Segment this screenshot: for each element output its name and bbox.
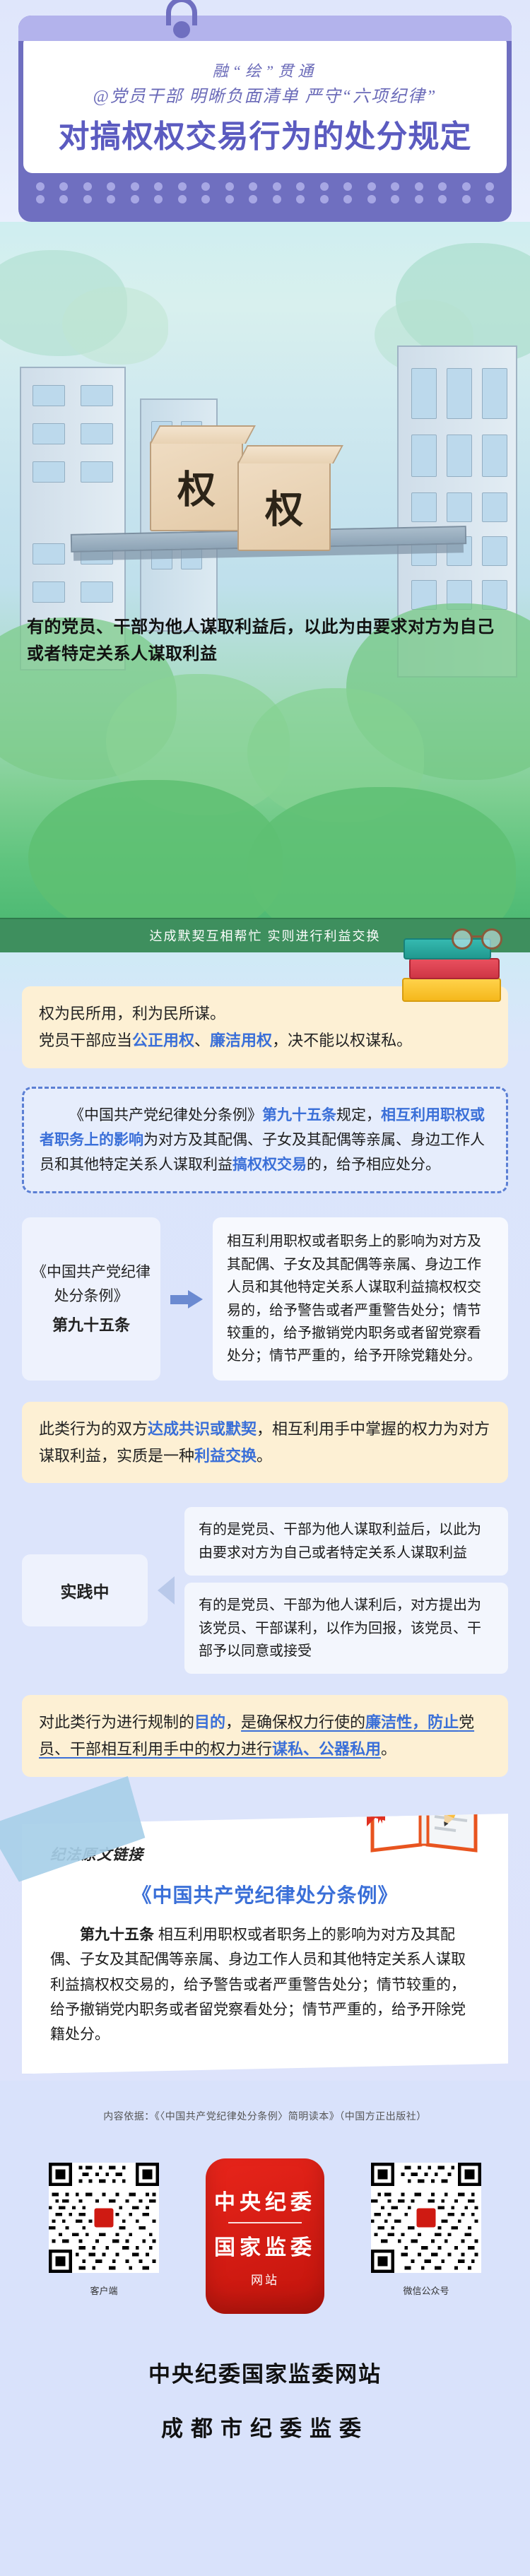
practice-label: 实践中 — [22, 1554, 148, 1626]
source-note: 内容依据：《〈中国共产党纪律处分条例〉简明读本》（中国方正出版社） — [0, 2109, 530, 2123]
dashed-p2: 规定， — [336, 1107, 381, 1123]
purpose-hl-selfish: 谋私、公器私用 — [272, 1740, 381, 1758]
arrow-right-icon — [160, 1217, 213, 1380]
law-article-body: 相互利用职权或者职务上的影响为对方及其配偶、子女及其配偶等亲属、身边工作人员和其… — [213, 1217, 508, 1380]
clipboard-dots-row-2 — [18, 195, 512, 203]
brand-row: 客户端 中央纪委 国家监委 网站 — [0, 2163, 530, 2314]
principle-hl-clean-use: 廉洁用权 — [210, 1032, 272, 1049]
principle-hl-fair-use: 公正用权 — [132, 1032, 194, 1049]
cream-box-nature: 此类行为的双方达成共识或默契，相互利用手中掌握的权力为对方谋取利益，实质是一种利… — [22, 1402, 508, 1484]
purpose-hl-integrity: 廉洁性，防止 — [365, 1713, 459, 1731]
nature-c: 。 — [257, 1447, 272, 1465]
purpose-c: 。 — [381, 1740, 396, 1758]
practice-row: 实践中 有的是党员、干部为他人谋取利益后，以此为由要求对方为自己或者特定关系人谋… — [22, 1507, 508, 1674]
clipboard-paper: 融“绘”贯通 @党员干部 明晰负面清单 严守“六项纪律” 对搞权权交易行为的处分… — [21, 41, 509, 175]
principle-line-2: 党员干部应当公正用权、廉洁用权，决不能以权谋私。 — [39, 1027, 491, 1054]
clipboard-bar — [18, 16, 512, 41]
header-kicker-line1: 融“绘”贯通 — [33, 59, 497, 83]
qr-app-column: 客户端 — [47, 2163, 160, 2297]
practice-items: 有的是党员、干部为他人谋取利益后，以此为由要求对方为自己或者特定关系人谋取利益 … — [184, 1507, 508, 1674]
seal-line-2: 国家监委 — [214, 2230, 316, 2261]
law-link-section: 纪法原文链接 《中国共产党纪律处分条例》 第九十五条 相互利用职权或者职务上的影… — [22, 1814, 508, 2081]
chevron-left-icon — [148, 1576, 184, 1605]
dashed-hl-article: 第九十五条 — [262, 1107, 336, 1123]
nature-hl-consensus: 达成共识或默契 — [148, 1420, 257, 1438]
purpose-underline-a: 是确保权力行使的 — [241, 1713, 365, 1731]
clipboard-dots-row-1 — [18, 182, 512, 191]
principle-line2-a: 党员干部应当 — [39, 1032, 132, 1049]
law-label-card: 《中国共产党纪律处分条例》 第九十五条 — [22, 1217, 160, 1380]
power-box-right-glyph: 权 — [239, 478, 329, 533]
qr-wechat-column: 微信公众号 — [370, 2163, 483, 2297]
principle-line2-c: ，决不能以权谋私。 — [272, 1032, 412, 1049]
qr-app-caption: 客户端 — [47, 2283, 160, 2297]
glasses-icon — [452, 928, 502, 951]
clipboard-card: 融“绘”贯通 @党员干部 明晰负面清单 严守“六项纪律” 对搞权权交易行为的处分… — [18, 16, 512, 222]
law-link-body: 第九十五条 相互利用职权或者职务上的影响为对方及其配偶、子女及其配偶等亲属、身边… — [50, 1922, 480, 2047]
law-link-article-number: 第九十五条 — [80, 1927, 154, 1943]
clipboard-pin-icon — [173, 21, 190, 38]
purpose-b: ， — [225, 1713, 241, 1731]
infographic-page: 融“绘”贯通 @党员干部 明晰负面清单 严守“六项纪律” 对搞权权交易行为的处分… — [0, 0, 530, 2488]
page-title: 对搞权权交易行为的处分规定 — [33, 119, 497, 156]
cream-box-principle: 权为民所用，利为民所谋。 党员干部应当公正用权、廉洁用权，决不能以权谋私。 — [22, 986, 508, 1068]
dashed-regulation-box: 《中国共产党纪律处分条例》第九十五条规定，相互利用职权或者职务上的影响为对方及其… — [22, 1087, 508, 1194]
illustration-scene: 权 权 有的党员、干部为他人谋取利益后，以此为由要求对方为自己或者特定关系人谋取… — [0, 222, 530, 918]
practice-item-2: 有的是党员、干部为他人谋利后，对方提出为该党员、干部谋利，以作为回报，该党员、干… — [184, 1583, 508, 1674]
law-link-article-text: 相互利用职权或者职务上的影响为对方及其配偶、子女及其配偶等亲属、身边工作人员和其… — [50, 1927, 466, 2043]
nature-a: 此类行为的双方 — [39, 1420, 148, 1438]
illustration-caption-1: 有的党员、干部为他人谋取利益后，以此为由要求对方为自己或者特定关系人谋取利益 — [27, 614, 507, 668]
nature-hl-exchange: 利益交换 — [194, 1447, 257, 1465]
power-box-left-glyph: 权 — [151, 458, 242, 514]
law-label-article-number: 第九十五条 — [32, 1313, 151, 1337]
power-box-right: 权 — [237, 461, 331, 551]
stacked-books-icon — [398, 931, 504, 1009]
practice-item-1: 有的是党员、干部为他人谋取利益后，以此为由要求对方为自己或者特定关系人谋取利益 — [184, 1507, 508, 1576]
qr-code-app[interactable] — [49, 2163, 159, 2273]
dashed-hl-trade: 搞权权交易 — [232, 1157, 307, 1173]
law-link-title: 《中国共产党纪律处分条例》 — [50, 1880, 480, 1908]
ccdi-seal-logo: 中央纪委 国家监委 网站 — [206, 2158, 324, 2314]
qr-code-wechat[interactable] — [371, 2163, 481, 2273]
purpose-hl-goal: 目的 — [194, 1713, 225, 1731]
power-box-left: 权 — [150, 441, 243, 531]
seal-line-3: 网站 — [251, 2270, 279, 2288]
purpose-a: 对此类行为进行规制的 — [39, 1713, 194, 1731]
dashed-p1: 《中国共产党纪律处分条例》 — [69, 1107, 262, 1123]
law-article-row: 《中国共产党纪律处分条例》 第九十五条 相互利用职权或者职务上的影响为对方及其配… — [22, 1217, 508, 1380]
dashed-p4: 的，给予相应处分。 — [307, 1157, 440, 1173]
footer-section: 内容依据：《〈中国共产党纪律处分条例〉简明读本》（中国方正出版社） — [0, 2081, 530, 2488]
cream-box-purpose: 对此类行为进行规制的目的，是确保权力行使的廉洁性，防止党员、干部相互利用手中的权… — [22, 1695, 508, 1777]
principle-line2-b: 、 — [194, 1032, 210, 1049]
content-section: 权为民所用，利为民所谋。 党员干部应当公正用权、廉洁用权，决不能以权谋私。 《中… — [0, 952, 530, 2081]
org-name-primary: 中央纪委国家监委网站 — [0, 2356, 530, 2388]
org-name-secondary: 成都市纪委监委 — [0, 2411, 530, 2442]
seal-line-1: 中央纪委 — [214, 2185, 316, 2216]
open-book-pencil-icon — [364, 1777, 484, 1855]
law-label-title: 《中国共产党纪律处分条例》 — [32, 1260, 151, 1308]
qr-wechat-caption: 微信公众号 — [370, 2283, 483, 2297]
header-section: 融“绘”贯通 @党员干部 明晰负面清单 严守“六项纪律” 对搞权权交易行为的处分… — [0, 0, 530, 222]
header-kicker-line2: @党员干部 明晰负面清单 严守“六项纪律” — [33, 84, 497, 110]
